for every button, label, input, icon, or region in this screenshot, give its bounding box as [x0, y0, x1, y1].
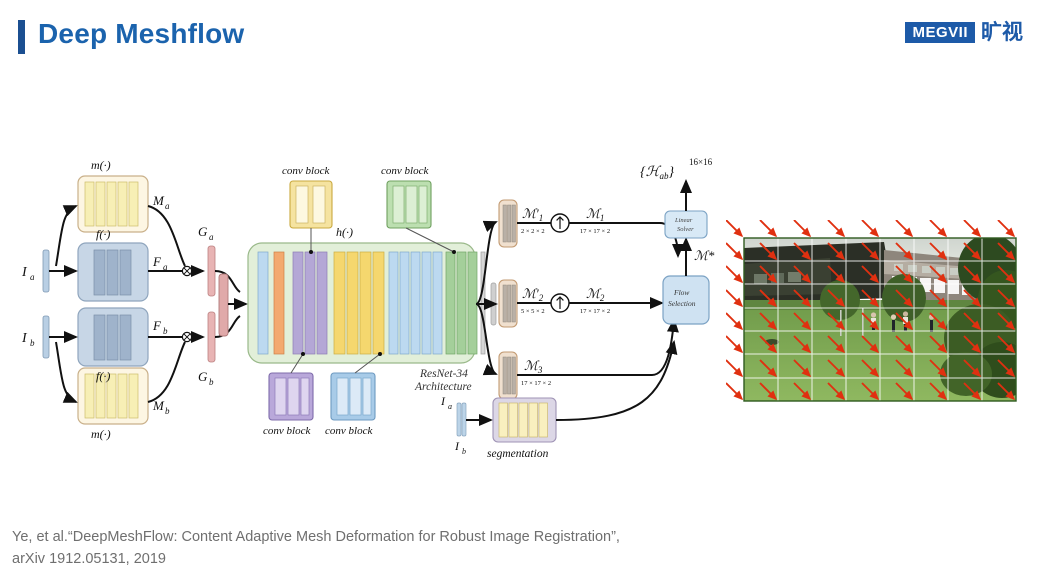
linear-solver-line1: Linear — [674, 217, 693, 224]
svg-text:F: F — [152, 318, 162, 333]
output-homography-label: {ℋab} 16×16 — [640, 157, 713, 181]
megvii-logo: MEGVII 旷视 — [905, 22, 1023, 43]
svg-text:b: b — [209, 377, 214, 387]
svg-text:b: b — [163, 326, 168, 336]
svg-text:conv block: conv block — [381, 165, 429, 177]
svg-text:I: I — [454, 439, 460, 453]
flow-selection-line2: Selection — [668, 299, 696, 308]
conv-block-top-right: conv block — [381, 165, 454, 252]
conv-block-bottom-left: conv block — [263, 354, 313, 437]
mesh2-pre-label: ℳ′2 — [522, 286, 544, 303]
mesh1-pre-label: ℳ′1 — [522, 206, 543, 223]
svg-text:a: a — [209, 232, 214, 242]
svg-text:F: F — [152, 254, 162, 269]
svg-text:I: I — [440, 394, 446, 408]
mesh-gridlines — [744, 238, 1016, 401]
flow-selection-box: Flow Selection — [663, 276, 709, 324]
svg-text:f(·): f(·) — [96, 369, 110, 383]
svg-text:a: a — [30, 272, 35, 282]
svg-text:f(·): f(·) — [96, 227, 110, 241]
mesh3-dim: 17 × 17 × 2 — [521, 380, 551, 387]
svg-text:m(·): m(·) — [91, 427, 111, 441]
linear-solver-line2: Solver — [677, 226, 694, 233]
upsample-op-2 — [551, 294, 569, 312]
mesh-head-3 — [499, 352, 517, 399]
input-Ia: I a — [21, 250, 49, 292]
mesh1-pre-dim: 2 × 2 × 2 — [521, 228, 545, 235]
merge-operator-top — [182, 266, 191, 275]
svg-text:conv block: conv block — [263, 425, 311, 437]
svg-text:a: a — [448, 402, 452, 411]
mesh1-post-label: ℳ1 — [586, 206, 604, 223]
caption-line-1: Ye, et al.“DeepMeshFlow: Content Adaptiv… — [12, 527, 1012, 549]
title-accent-bar — [18, 20, 25, 54]
page-header: Deep Meshflow MEGVII 旷视 — [0, 0, 1041, 72]
concat-strip — [219, 274, 228, 336]
figure-caption: Ye, et al.“DeepMeshFlow: Content Adaptiv… — [12, 527, 1012, 571]
mesh3-label: ℳ3 — [524, 358, 543, 375]
svg-text:16×16: 16×16 — [689, 157, 713, 167]
motion-vectors — [726, 220, 1014, 399]
mesh2-post-label: ℳ2 — [586, 286, 605, 303]
mesh-overlay — [726, 220, 1034, 419]
conv-block-top-left: conv block — [282, 165, 332, 252]
svg-text:G: G — [198, 224, 208, 239]
svg-text:conv block: conv block — [325, 425, 373, 437]
input-Ib: I b — [21, 316, 49, 358]
gate-Gb: G b — [198, 312, 215, 387]
mask-block-bottom: m(·) M b — [78, 368, 170, 441]
feature-block-top: f(·) F a — [78, 227, 168, 301]
backbone-name-1: ResNet-34 — [419, 368, 468, 380]
caption-line-2: arXiv 1912.05131, 2019 — [12, 549, 1012, 571]
upsample-op-1 — [551, 214, 569, 232]
svg-text:conv block: conv block — [282, 165, 330, 177]
svg-text:I: I — [21, 331, 28, 346]
svg-text:b: b — [165, 406, 170, 416]
svg-text:G: G — [198, 369, 208, 384]
segmentation-label: segmentation — [487, 448, 549, 460]
result-photo-panel — [744, 238, 1016, 401]
mesh1-post-dim: 17 × 17 × 2 — [580, 228, 610, 235]
logo-wordmark: MEGVII — [905, 22, 975, 43]
mesh-head-1 — [499, 200, 517, 247]
svg-text:I: I — [21, 265, 28, 280]
svg-text:M: M — [152, 193, 165, 208]
flow-selection-line1: Flow — [673, 288, 689, 297]
selected-mesh-label: ℳ* — [694, 248, 715, 263]
svg-text:{ℋab}: {ℋab} — [640, 165, 674, 181]
svg-text:m(·): m(·) — [91, 158, 111, 172]
linear-solver-box: Linear Solver — [665, 211, 707, 238]
page-title: Deep Meshflow — [38, 18, 244, 50]
segmentation-inputs: I a I b — [440, 394, 466, 456]
svg-text:a: a — [165, 201, 170, 211]
logo-chinese-name: 旷视 — [981, 22, 1023, 43]
mesh2-pre-dim: 5 × 5 × 2 — [521, 308, 545, 315]
merge-operator-bottom — [182, 332, 191, 341]
svg-text:b: b — [30, 338, 35, 348]
gate-Ga: G a — [198, 224, 215, 296]
svg-text:h(·): h(·) — [336, 225, 353, 239]
mesh2-post-dim: 17 × 17 × 2 — [580, 308, 610, 315]
backbone-name-2: Architecture — [414, 381, 472, 393]
conv-block-bottom-right: conv block — [325, 354, 380, 437]
segmentation-block: segmentation — [487, 398, 556, 460]
resnet34-backbone: h(·) ResNet-34 Architecture — [248, 225, 496, 393]
mask-block-top: m(·) M a — [78, 158, 170, 232]
mesh-head-2 — [499, 280, 517, 327]
svg-text:b: b — [462, 447, 466, 456]
